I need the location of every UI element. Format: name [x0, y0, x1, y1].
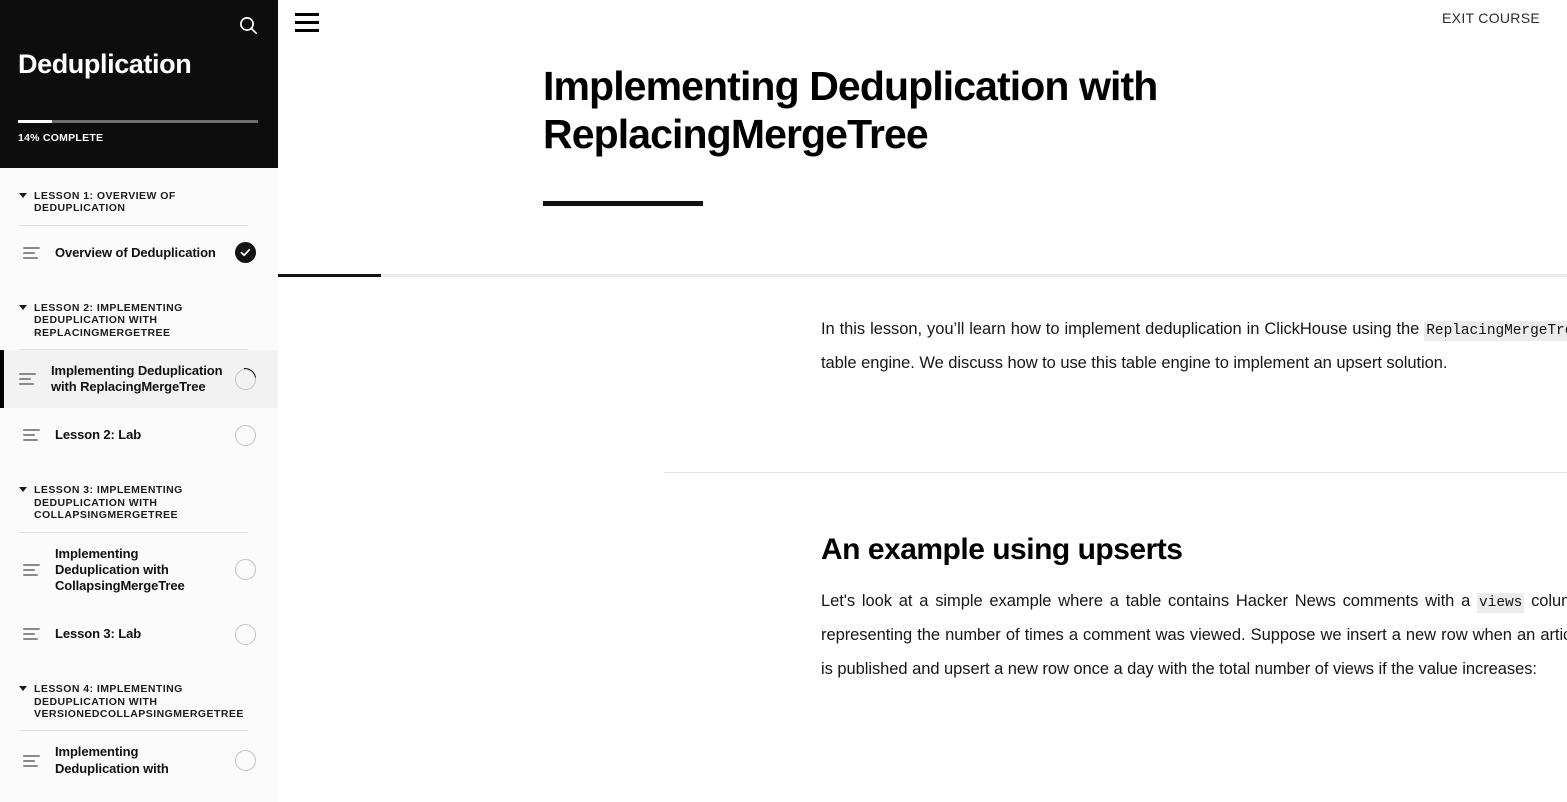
document-body: In this lesson, you’ll learn how to impl… — [278, 295, 1567, 802]
course-progress-fill — [18, 120, 52, 123]
intro-block: In this lesson, you’ll learn how to impl… — [821, 313, 1567, 381]
lesson-item-label: Lesson 3: Lab — [55, 626, 235, 642]
lesson-section-title: LESSON 4: IMPLEMENTING DEDUPLICATION WIT… — [34, 683, 256, 720]
hamburger-bar — [295, 21, 319, 24]
course-progress-label: 14% COMPLETE — [18, 132, 258, 144]
intro-text-part1: In this lesson, you’ll learn how to impl… — [821, 320, 1424, 338]
title-underline-rule — [543, 201, 703, 206]
main-content: EXIT COURSE Implementing Deduplication w… — [278, 0, 1567, 802]
course-progress-track — [18, 120, 258, 123]
lesson-list-item[interactable]: Implementing Deduplication with Collapsi… — [0, 533, 278, 608]
lesson-list-item[interactable]: Implementing Deduplication with Replacin… — [0, 350, 278, 409]
search-icon-svg — [239, 16, 258, 35]
chevron-down-icon — [19, 686, 27, 691]
upserts-text-part1: Let's look at a simple example where a t… — [821, 592, 1477, 610]
course-player: Deduplication 14% COMPLETE LESSON 1: OVE… — [0, 0, 1567, 802]
lesson-section-title: LESSON 3: IMPLEMENTING DEDUPLICATION WIT… — [34, 484, 256, 521]
lesson-list[interactable]: LESSON 1: OVERVIEW OF DEDUPLICATIONOverv… — [0, 168, 278, 802]
upserts-paragraph: Let's look at a simple example where a t… — [821, 585, 1567, 686]
course-progress: 14% COMPLETE — [18, 120, 258, 144]
lesson-list-item[interactable]: Overview of Deduplication — [0, 226, 278, 280]
search-icon[interactable] — [235, 12, 261, 38]
sidebar-header: Deduplication 14% COMPLETE — [0, 0, 278, 168]
lesson-status-done-icon[interactable] — [235, 242, 256, 263]
text-lines-icon — [23, 247, 40, 259]
text-lines-icon — [23, 564, 40, 576]
hamburger-bar — [295, 29, 319, 32]
lesson-progress-bar — [278, 274, 1567, 277]
exit-course-button[interactable]: EXIT COURSE — [1442, 10, 1540, 26]
section-divider — [664, 472, 1567, 473]
text-lines-icon — [23, 755, 40, 767]
lesson-status-empty-icon[interactable] — [235, 425, 256, 446]
lesson-status-empty-icon[interactable] — [235, 624, 256, 645]
intro-text-part2: table engine. We discuss how to use this… — [821, 354, 1447, 372]
document-header: Implementing Deduplication with Replacin… — [278, 48, 1567, 206]
hamburger-bar — [295, 13, 319, 16]
lesson-item-label: Implementing Deduplication with — [55, 744, 235, 777]
course-sidebar: Deduplication 14% COMPLETE LESSON 1: OVE… — [0, 0, 278, 802]
chevron-down-icon — [19, 305, 27, 310]
lesson-item-label: Lesson 2: Lab — [55, 427, 235, 443]
lesson-section-header[interactable]: LESSON 1: OVERVIEW OF DEDUPLICATION — [0, 168, 278, 215]
text-lines-icon — [23, 429, 40, 441]
page-title: Implementing Deduplication with Replacin… — [543, 62, 1243, 159]
chevron-down-icon — [19, 487, 27, 492]
lesson-list-item[interactable]: Implementing Deduplication with — [0, 731, 278, 790]
lesson-status-empty-icon[interactable] — [235, 750, 256, 771]
lesson-status-empty-icon[interactable] — [235, 559, 256, 580]
lesson-status-partial-icon[interactable] — [235, 369, 256, 390]
section-upserts: An example using upserts Let's look at a… — [278, 533, 1567, 686]
inline-code-views: views — [1477, 593, 1524, 613]
inline-code-replacingmergetree: ReplacingMergeTree — [1424, 321, 1567, 341]
lesson-item-label: Implementing Deduplication with Replacin… — [51, 363, 235, 396]
lesson-section-header[interactable]: LESSON 3: IMPLEMENTING DEDUPLICATION WIT… — [0, 462, 278, 521]
lesson-section-header[interactable]: LESSON 2: IMPLEMENTING DEDUPLICATION WIT… — [0, 280, 278, 339]
course-title: Deduplication — [18, 50, 191, 80]
text-lines-icon — [19, 373, 36, 385]
lesson-item-label: Overview of Deduplication — [55, 245, 235, 261]
lesson-progress-fill — [278, 274, 381, 277]
lesson-section-header[interactable]: LESSON 4: IMPLEMENTING DEDUPLICATION WIT… — [0, 661, 278, 720]
lesson-section-title: LESSON 1: OVERVIEW OF DEDUPLICATION — [34, 190, 256, 215]
section-heading-upserts: An example using upserts — [821, 533, 1567, 567]
lesson-list-item[interactable]: Lesson 2: Lab — [0, 408, 278, 462]
check-icon — [240, 247, 251, 258]
top-bar: EXIT COURSE — [278, 0, 1567, 48]
lesson-section-title: LESSON 2: IMPLEMENTING DEDUPLICATION WIT… — [34, 302, 256, 339]
chevron-down-icon — [19, 193, 27, 198]
lesson-list-item[interactable]: Lesson 3: Lab — [0, 607, 278, 661]
text-lines-icon — [23, 628, 40, 640]
intro-paragraph: In this lesson, you’ll learn how to impl… — [821, 313, 1567, 381]
hamburger-menu-icon[interactable] — [295, 13, 319, 32]
lesson-item-label: Implementing Deduplication with Collapsi… — [55, 546, 235, 595]
